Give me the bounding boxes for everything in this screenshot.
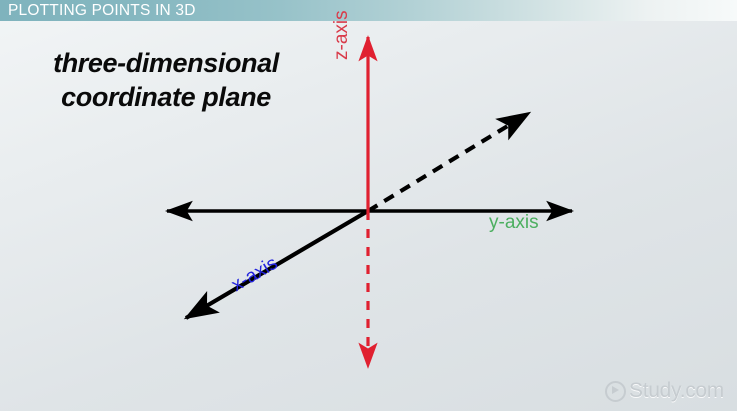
play-circle-icon: [605, 381, 626, 402]
slide-canvas: PLOTTING POINTS IN 3D three-dimensional …: [0, 0, 737, 411]
watermark-text: Study.com: [629, 379, 724, 403]
x-axis-negative-line: [368, 113, 529, 211]
z-axis-label: z-axis: [331, 10, 353, 60]
three-dimensional-axes-diagram: [0, 0, 737, 411]
y-axis-label: y-axis: [489, 212, 539, 234]
watermark: Study.com: [605, 379, 724, 403]
